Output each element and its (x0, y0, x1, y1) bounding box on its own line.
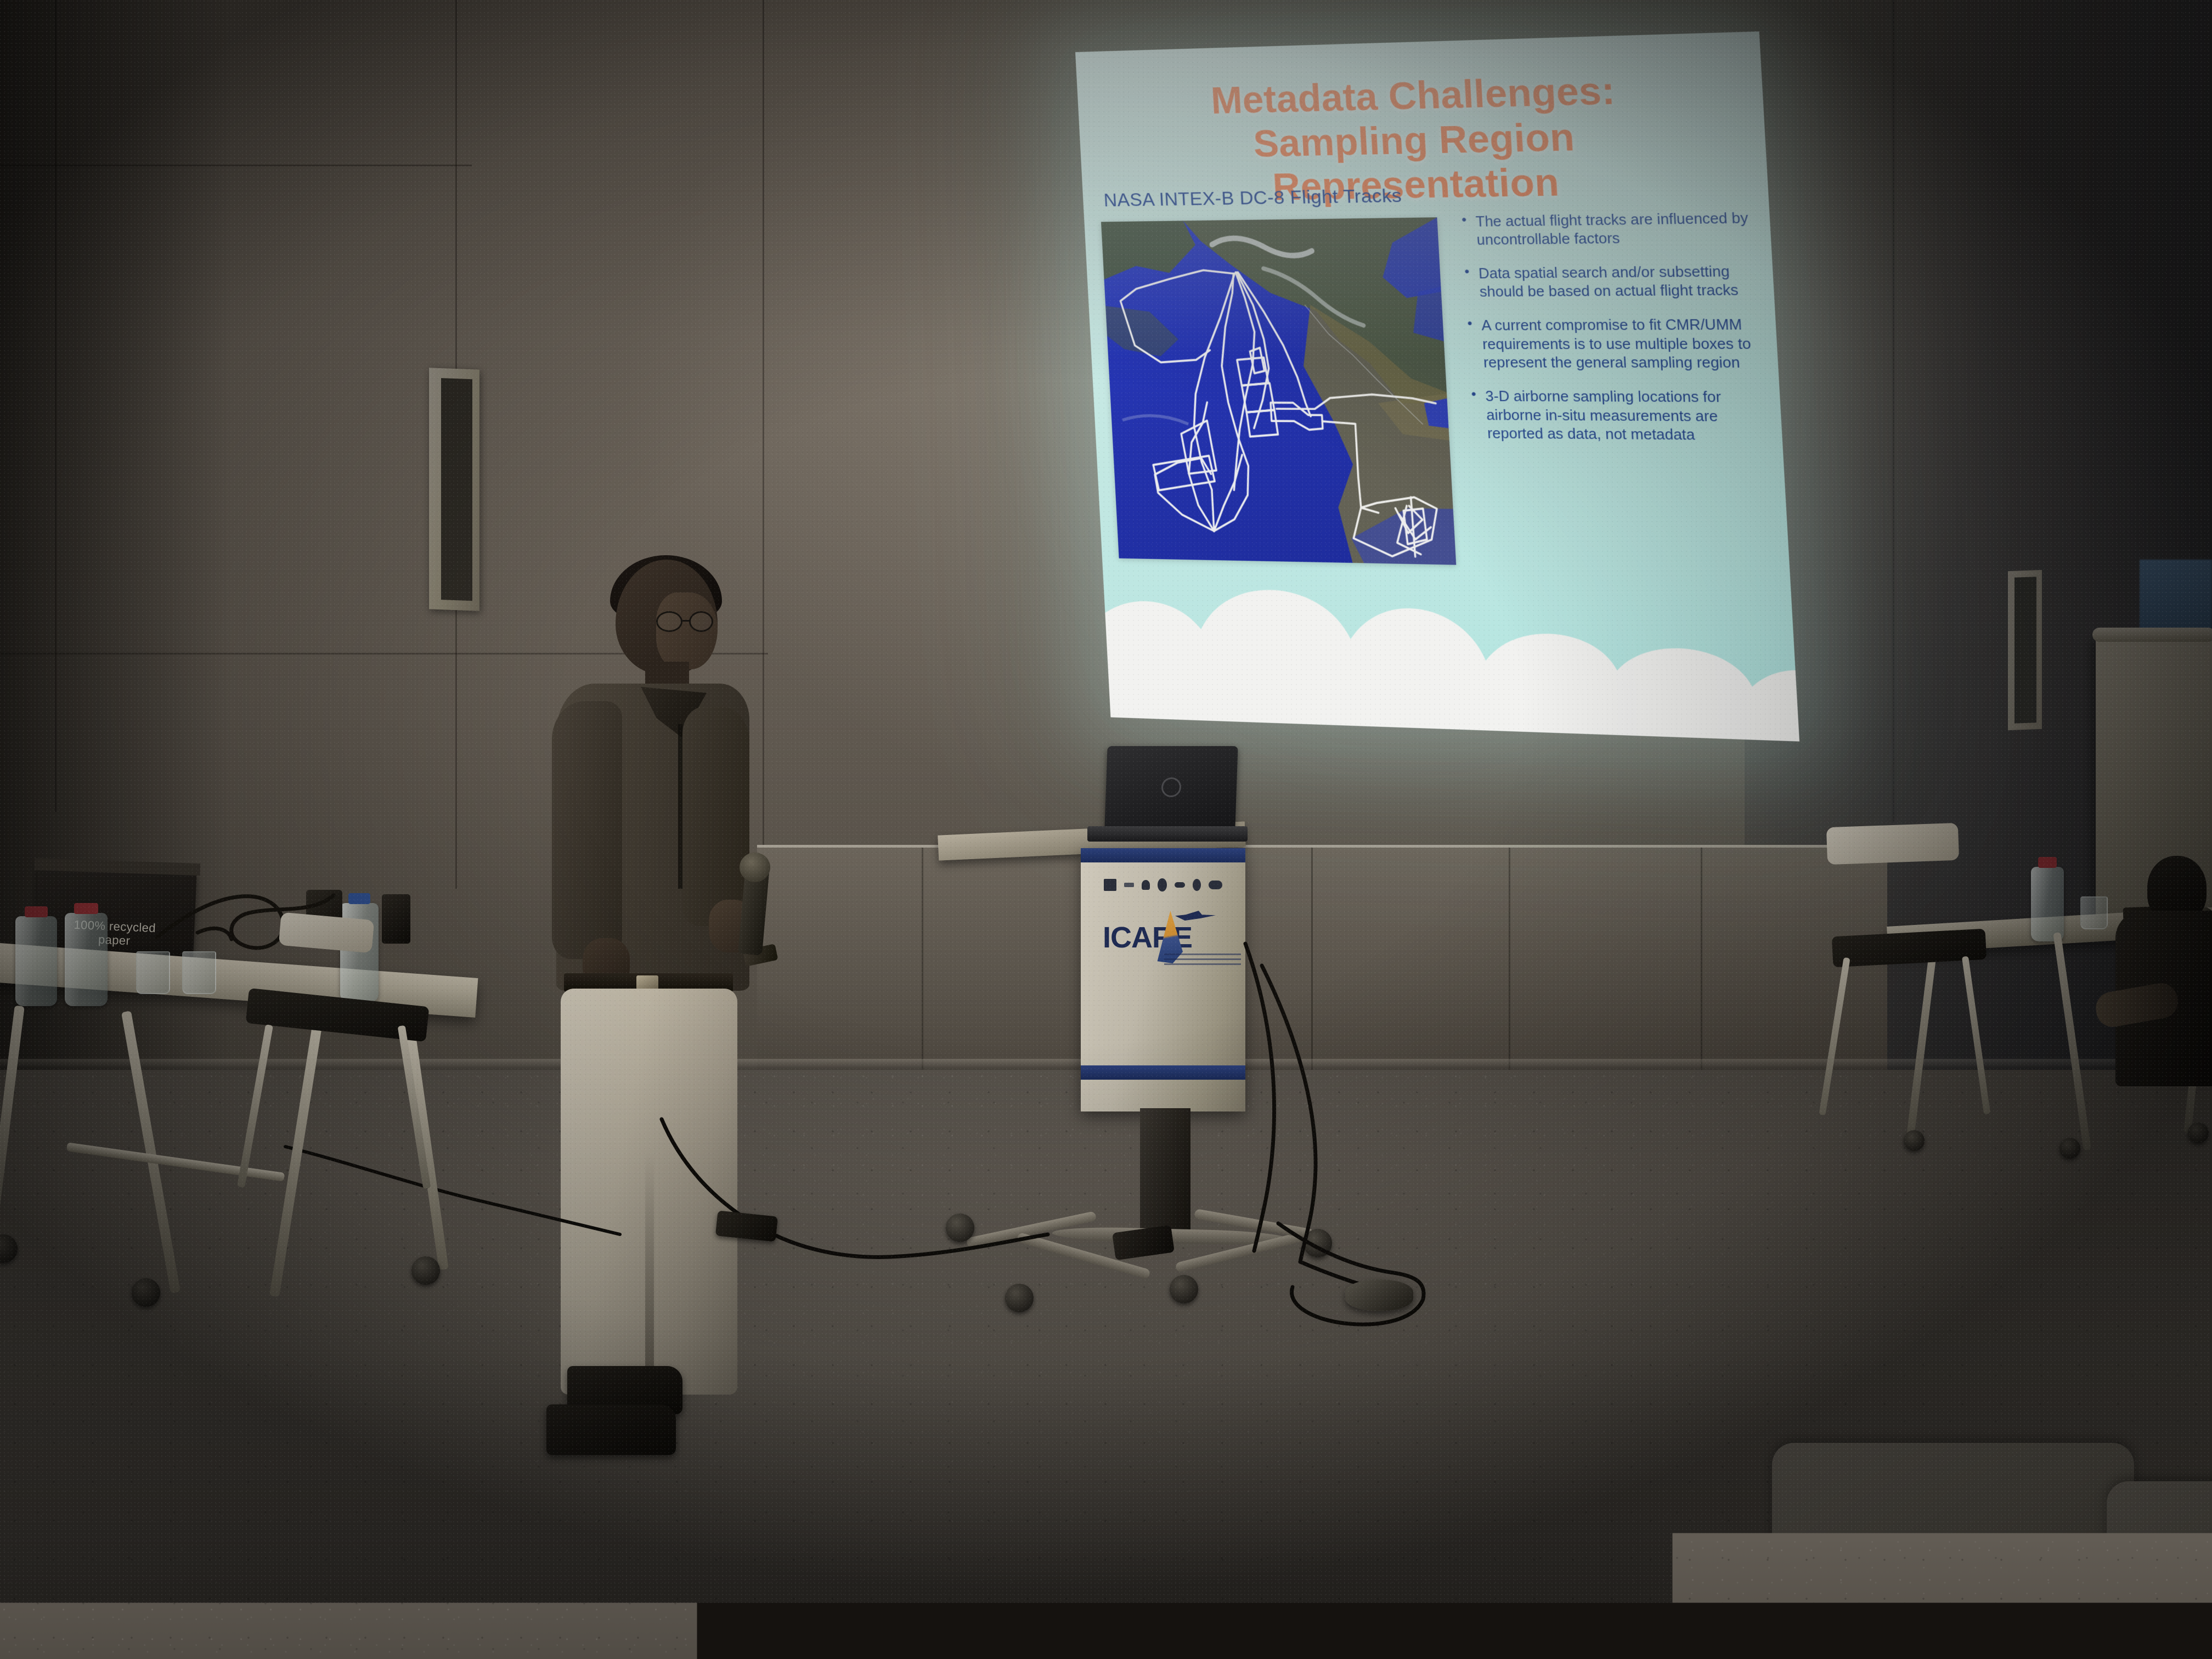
caster-wheel (411, 1256, 440, 1285)
wall-speaker-icon (429, 368, 479, 611)
laptop[interactable] (1104, 746, 1238, 828)
wall-cabinet-run (757, 845, 1887, 1070)
chair-seat (1717, 1580, 1915, 1659)
table-leg (406, 1035, 449, 1270)
presenter-left-arm (552, 701, 622, 959)
left-side-table: 100% recycled paper (0, 927, 494, 1476)
airplane-icon (1175, 911, 1216, 921)
chair-leg (1962, 956, 1990, 1115)
presentation-slide: Metadata Challenges: Sampling Region Rep… (1075, 31, 1799, 741)
presenter (549, 560, 779, 1448)
flight-track-map (1101, 217, 1456, 565)
microphone-head (740, 853, 770, 882)
eyeglasses-icon (656, 611, 725, 633)
slide-bullet: 3-D airborne sampling locations for airb… (1470, 387, 1764, 445)
chair-seat (2030, 1585, 2194, 1659)
caster-wheel (946, 1214, 974, 1242)
floor-puck-device (1345, 1279, 1413, 1311)
trouser-leg-seam (645, 1152, 654, 1393)
caster-wheel (1170, 1275, 1198, 1304)
chair-leg (237, 1024, 273, 1188)
table-leg (1906, 942, 1938, 1144)
slide-bullet-list: The actual flight tracks are influenced … (1460, 208, 1765, 460)
chair-backrest (1826, 823, 1959, 865)
icare-tagline (1164, 953, 1241, 966)
cart-column (1140, 1108, 1190, 1243)
laptop-brand-logo-icon (1161, 777, 1181, 797)
equipment-block (382, 894, 410, 944)
flipchart-roller (2092, 628, 2212, 642)
bottle-cap (2038, 857, 2057, 868)
table-leg (269, 1025, 322, 1297)
bottle-cap (25, 906, 48, 917)
map-caption: NASA INTEX-B DC-8 Flight Tracks (1103, 185, 1402, 211)
presenter-right-arm (682, 707, 749, 926)
seated-attendee (2101, 856, 2212, 1163)
podium-stripe (1081, 848, 1245, 862)
caster-wheel (0, 1234, 18, 1263)
podium-stripe (1081, 1065, 1245, 1080)
table-leg (2053, 932, 2091, 1150)
bottle-cap (74, 903, 98, 914)
table-leg (0, 1006, 25, 1246)
icare-logo: ICARE (1103, 907, 1229, 968)
map-svg (1101, 217, 1456, 565)
slide-bullet: The actual flight tracks are influenced … (1460, 208, 1753, 250)
caster-wheel (1304, 1229, 1332, 1257)
caster-wheel (132, 1278, 160, 1307)
podium-panel: ICARE (1081, 848, 1245, 1111)
water-bottle (2031, 867, 2064, 941)
table-crossbar (66, 1142, 285, 1182)
laptop-base (1087, 826, 1248, 842)
caster-wheel (1005, 1284, 1034, 1312)
slide-bullet: A current compromise to fit CMR/UMM requ… (1466, 315, 1760, 373)
shirt-placket (678, 724, 682, 889)
projection-screen: Metadata Challenges: Sampling Region Rep… (1075, 31, 1799, 741)
slide-title-line-1: Metadata Challenges: (1210, 69, 1616, 122)
slide-bullet: Data spatial search and/or subsetting sh… (1463, 262, 1756, 302)
speaker-grille (2015, 577, 2036, 724)
water-bottle (65, 913, 108, 1006)
speaker-grille (441, 378, 472, 601)
cloud-decoration-icon (1076, 557, 1799, 742)
belt-buckle (636, 975, 658, 990)
water-bottle (15, 916, 57, 1006)
sponsor-logo-row (1104, 878, 1222, 892)
shoe (546, 1404, 676, 1455)
wall-speaker-icon (2008, 570, 2042, 730)
caster-wheel (2059, 1138, 2080, 1159)
caster-wheel (1904, 1130, 1925, 1151)
conference-room-photo: Metadata Challenges: Sampling Region Rep… (0, 0, 2212, 1659)
